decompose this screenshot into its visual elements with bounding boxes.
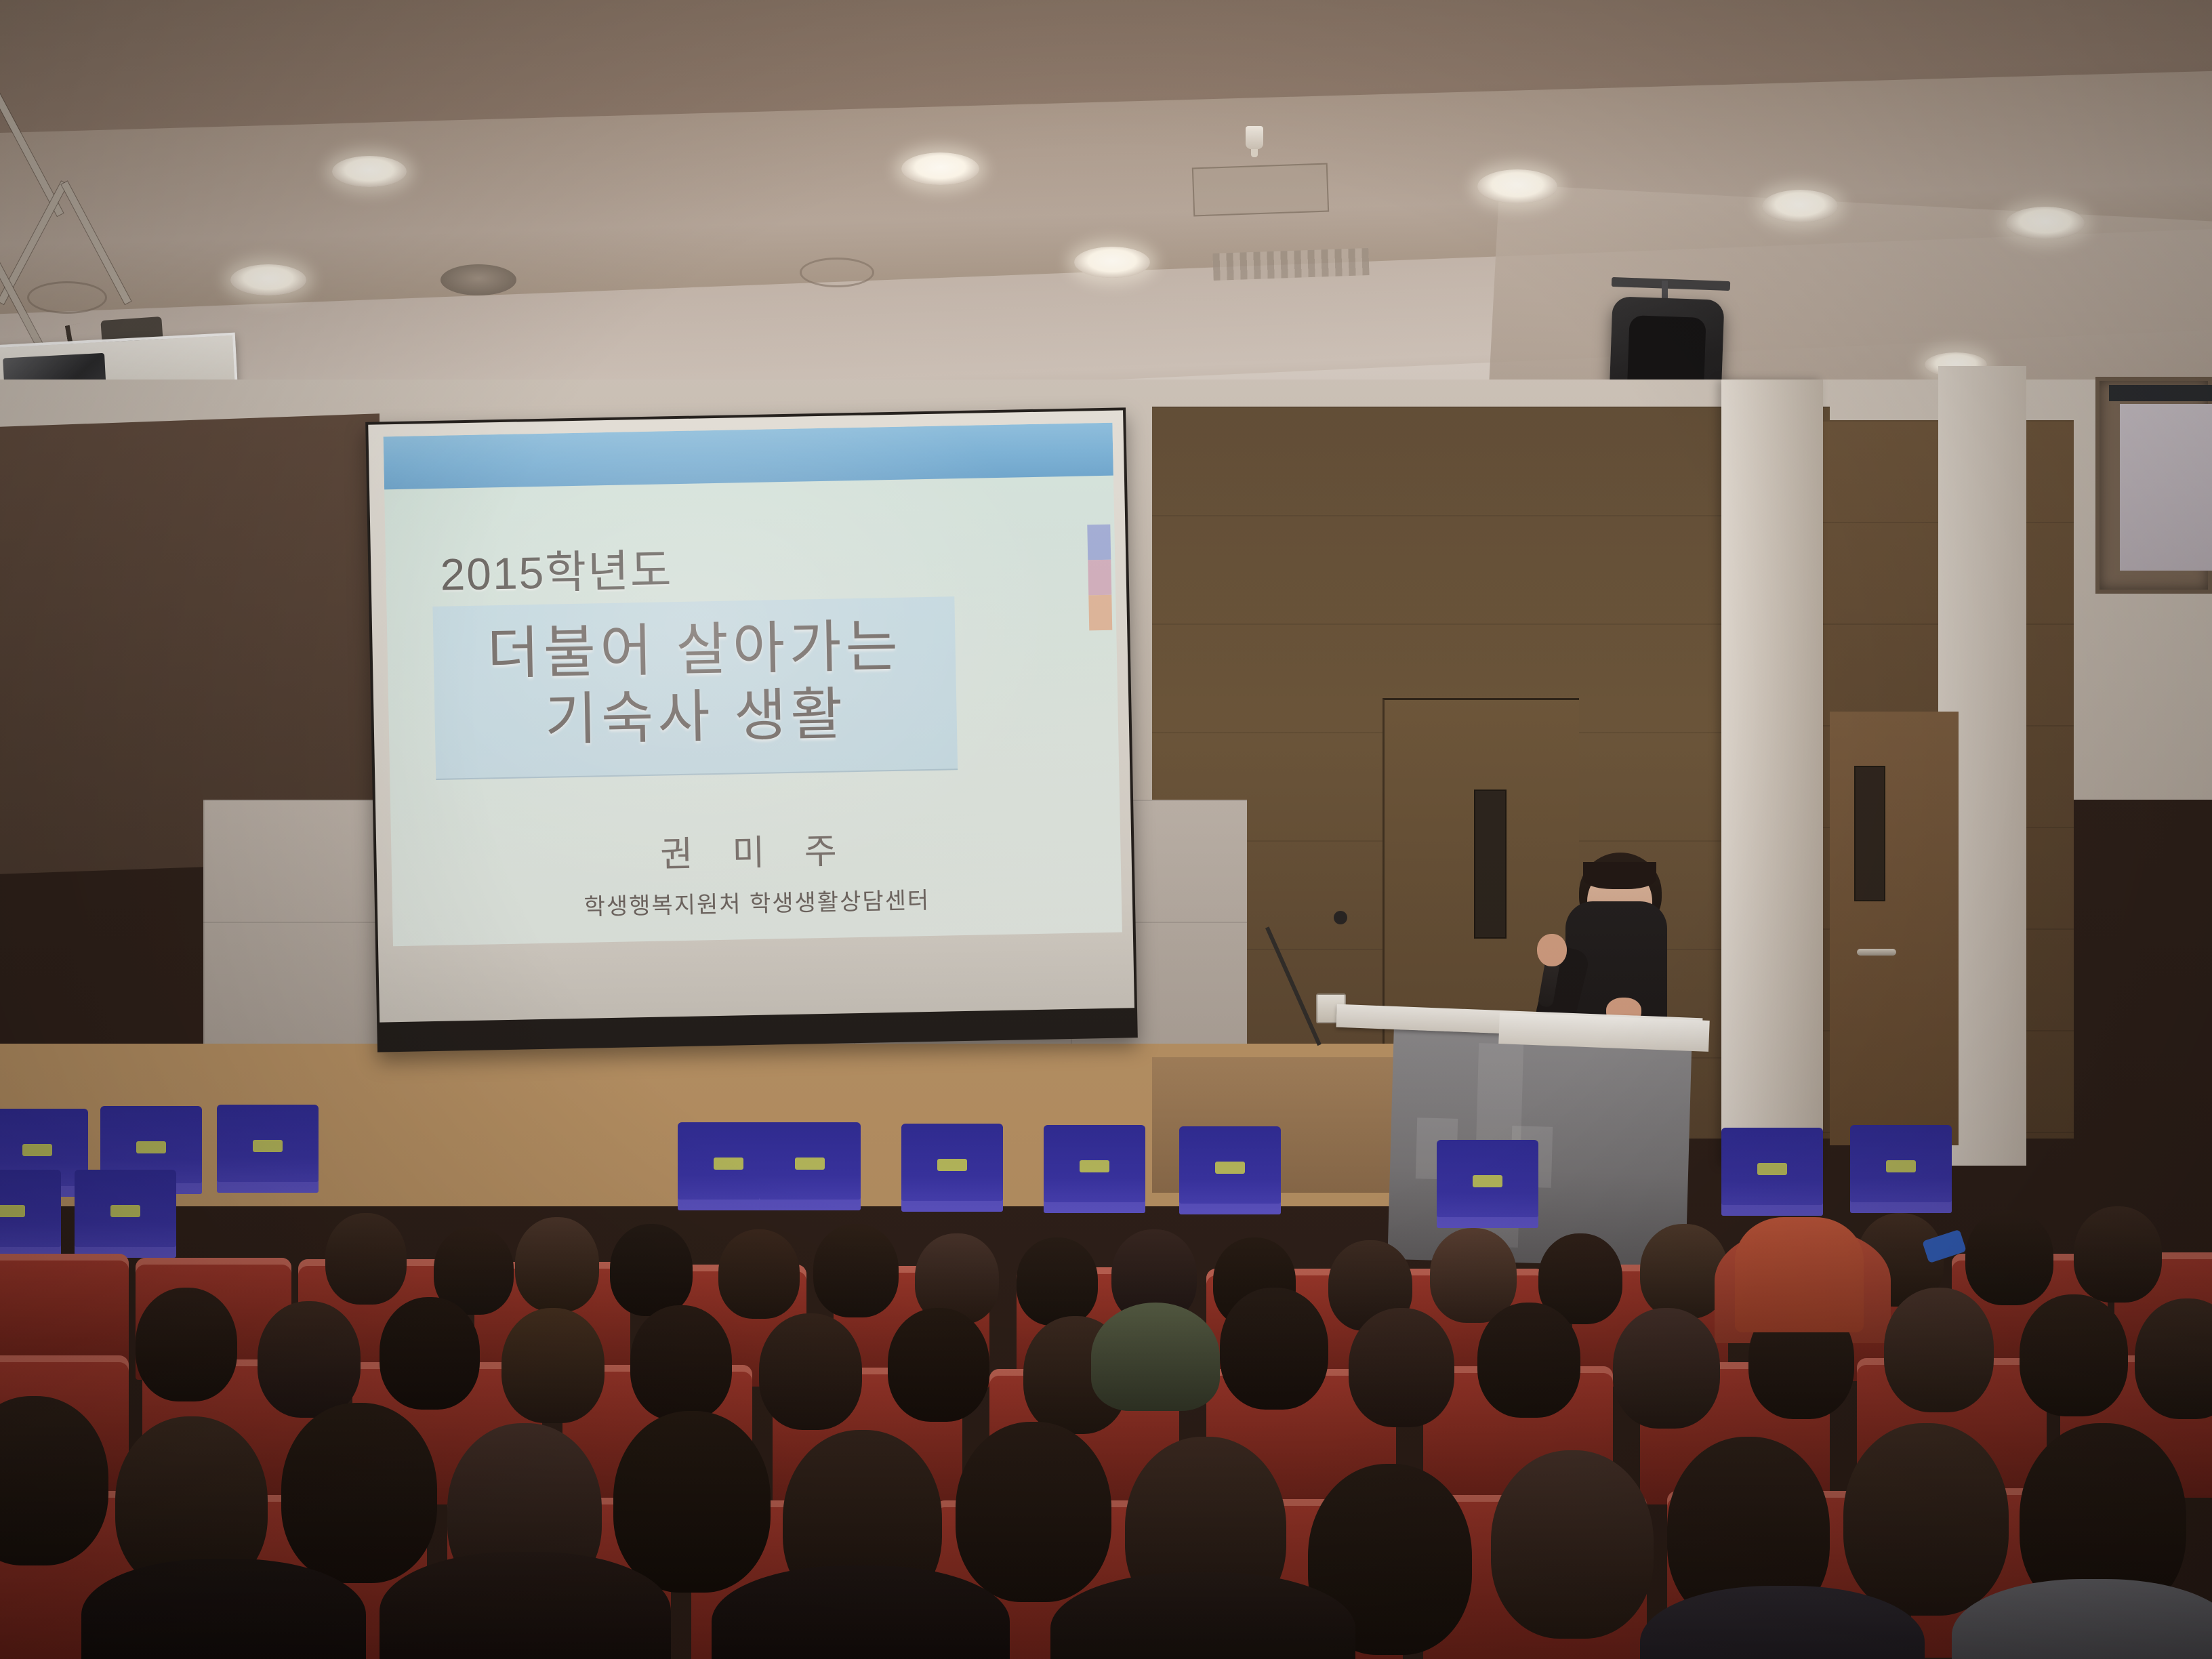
audience-member-silhouette	[81, 1559, 366, 1659]
side-exit-door-vision-panel	[1854, 766, 1885, 901]
ceiling-downlight	[1477, 169, 1557, 203]
audience-member-head	[613, 1411, 771, 1593]
gooseneck-microphone-capsule-icon	[1334, 911, 1347, 924]
slide-chip-blue	[1087, 525, 1111, 560]
slide-affiliation: 학생행복지원처 학생생활상담센터	[392, 878, 1122, 926]
audience-member-head	[2074, 1206, 2162, 1303]
slide-presenter-name: 권 미 주	[391, 817, 1121, 882]
slide-title-line-1: 더불어 살아가는	[432, 596, 956, 689]
ceiling-downlight-rim	[800, 258, 874, 287]
slide-chip-pink	[1088, 560, 1111, 596]
audience-member-head	[759, 1313, 862, 1430]
structural-pillar	[1721, 380, 1823, 1166]
audience-member-head	[501, 1308, 605, 1423]
slide-chip-peach	[1088, 595, 1112, 631]
stage-door-vision-panel	[1474, 790, 1507, 939]
ceiling-downlight-off	[441, 264, 516, 295]
projection-screen-surface: 2015학년도 더불어 살아가는 기숙사 생활 권 미 주 학생행복지원처 학생…	[368, 410, 1134, 1022]
front-row-chair[interactable]	[1044, 1125, 1145, 1213]
slide-year-label: 2015학년도	[439, 534, 673, 604]
recessed-wall-display-screen	[2120, 404, 2212, 571]
audience-member-head	[1843, 1423, 2009, 1616]
audience-member-head	[1220, 1288, 1328, 1410]
audience-member-head	[1884, 1288, 1994, 1412]
presenter-hand	[1537, 934, 1567, 966]
slide-top-band	[384, 423, 1113, 490]
ceiling-downlight	[901, 152, 979, 185]
slide-decor-chips	[1087, 525, 1112, 631]
slide-title-box: 더불어 살아가는 기숙사 생활	[432, 596, 958, 780]
sprinkler-head-icon	[1246, 126, 1263, 149]
recessed-wall-display-header-bar	[2109, 385, 2212, 401]
ceiling-downlight	[1074, 247, 1150, 278]
audience-member-head	[630, 1305, 732, 1420]
audience-member-silhouette	[380, 1552, 671, 1659]
ceiling-downlight	[332, 156, 407, 187]
presentation-slide: 2015학년도 더불어 살아가는 기숙사 생활 권 미 주 학생행복지원처 학생…	[384, 423, 1122, 947]
audience-member-silhouette	[712, 1565, 1010, 1659]
audience-member-head	[281, 1403, 437, 1583]
audience-member-head	[1017, 1237, 1098, 1326]
audience-member-head	[1491, 1450, 1654, 1639]
ceiling-air-vent	[1212, 248, 1369, 281]
front-row-chair[interactable]	[1437, 1140, 1538, 1228]
audience-member-head	[2020, 1294, 2128, 1416]
door-handle-icon[interactable]	[1857, 949, 1896, 956]
front-row-chair[interactable]	[1850, 1125, 1952, 1213]
audience-member-head	[1613, 1308, 1720, 1429]
audience-member-head	[1965, 1210, 2053, 1305]
audience-member-head	[515, 1217, 599, 1312]
projection-screen: 2015학년도 더불어 살아가는 기숙사 생활 권 미 주 학생행복지원처 학생…	[365, 407, 1138, 1052]
front-row-chair[interactable]	[901, 1124, 1003, 1212]
audience-member-head	[1349, 1308, 1454, 1427]
audience-member-head	[718, 1229, 800, 1319]
audience-member-orange-jacket	[1735, 1217, 1864, 1332]
audience-member-olive-beanie	[1091, 1303, 1220, 1411]
ceiling-downlight	[1762, 190, 1838, 222]
front-row-chair[interactable]	[217, 1105, 319, 1193]
ceiling-downlight	[2006, 207, 2085, 239]
audience-member-head	[325, 1213, 407, 1305]
front-row-chair[interactable]	[759, 1122, 861, 1210]
side-exit-door[interactable]	[1830, 712, 1959, 1145]
audience-area	[0, 1084, 2212, 1659]
ceiling-access-hatch	[1192, 163, 1329, 217]
ceiling-downlight	[230, 264, 306, 295]
audience-member-head	[888, 1308, 989, 1422]
slide-title-line-2: 기숙사 생활	[434, 678, 958, 756]
front-row-chair[interactable]	[1721, 1128, 1823, 1216]
audience-member-head	[380, 1297, 480, 1410]
audience-member-head	[956, 1422, 1111, 1602]
audience-member-head	[258, 1301, 361, 1418]
front-row-chair[interactable]	[1179, 1126, 1281, 1214]
audience-member-head	[1477, 1303, 1580, 1418]
presenter-bangs	[1583, 862, 1656, 889]
audience-member-head	[610, 1224, 693, 1316]
audience-member-head	[813, 1224, 899, 1317]
auditorium-photo: 2015학년도 더불어 살아가는 기숙사 생활 권 미 주 학생행복지원처 학생…	[0, 0, 2212, 1659]
front-row-chair[interactable]	[75, 1170, 176, 1258]
audience-member-head	[136, 1288, 237, 1401]
front-row-chair[interactable]	[0, 1170, 61, 1258]
